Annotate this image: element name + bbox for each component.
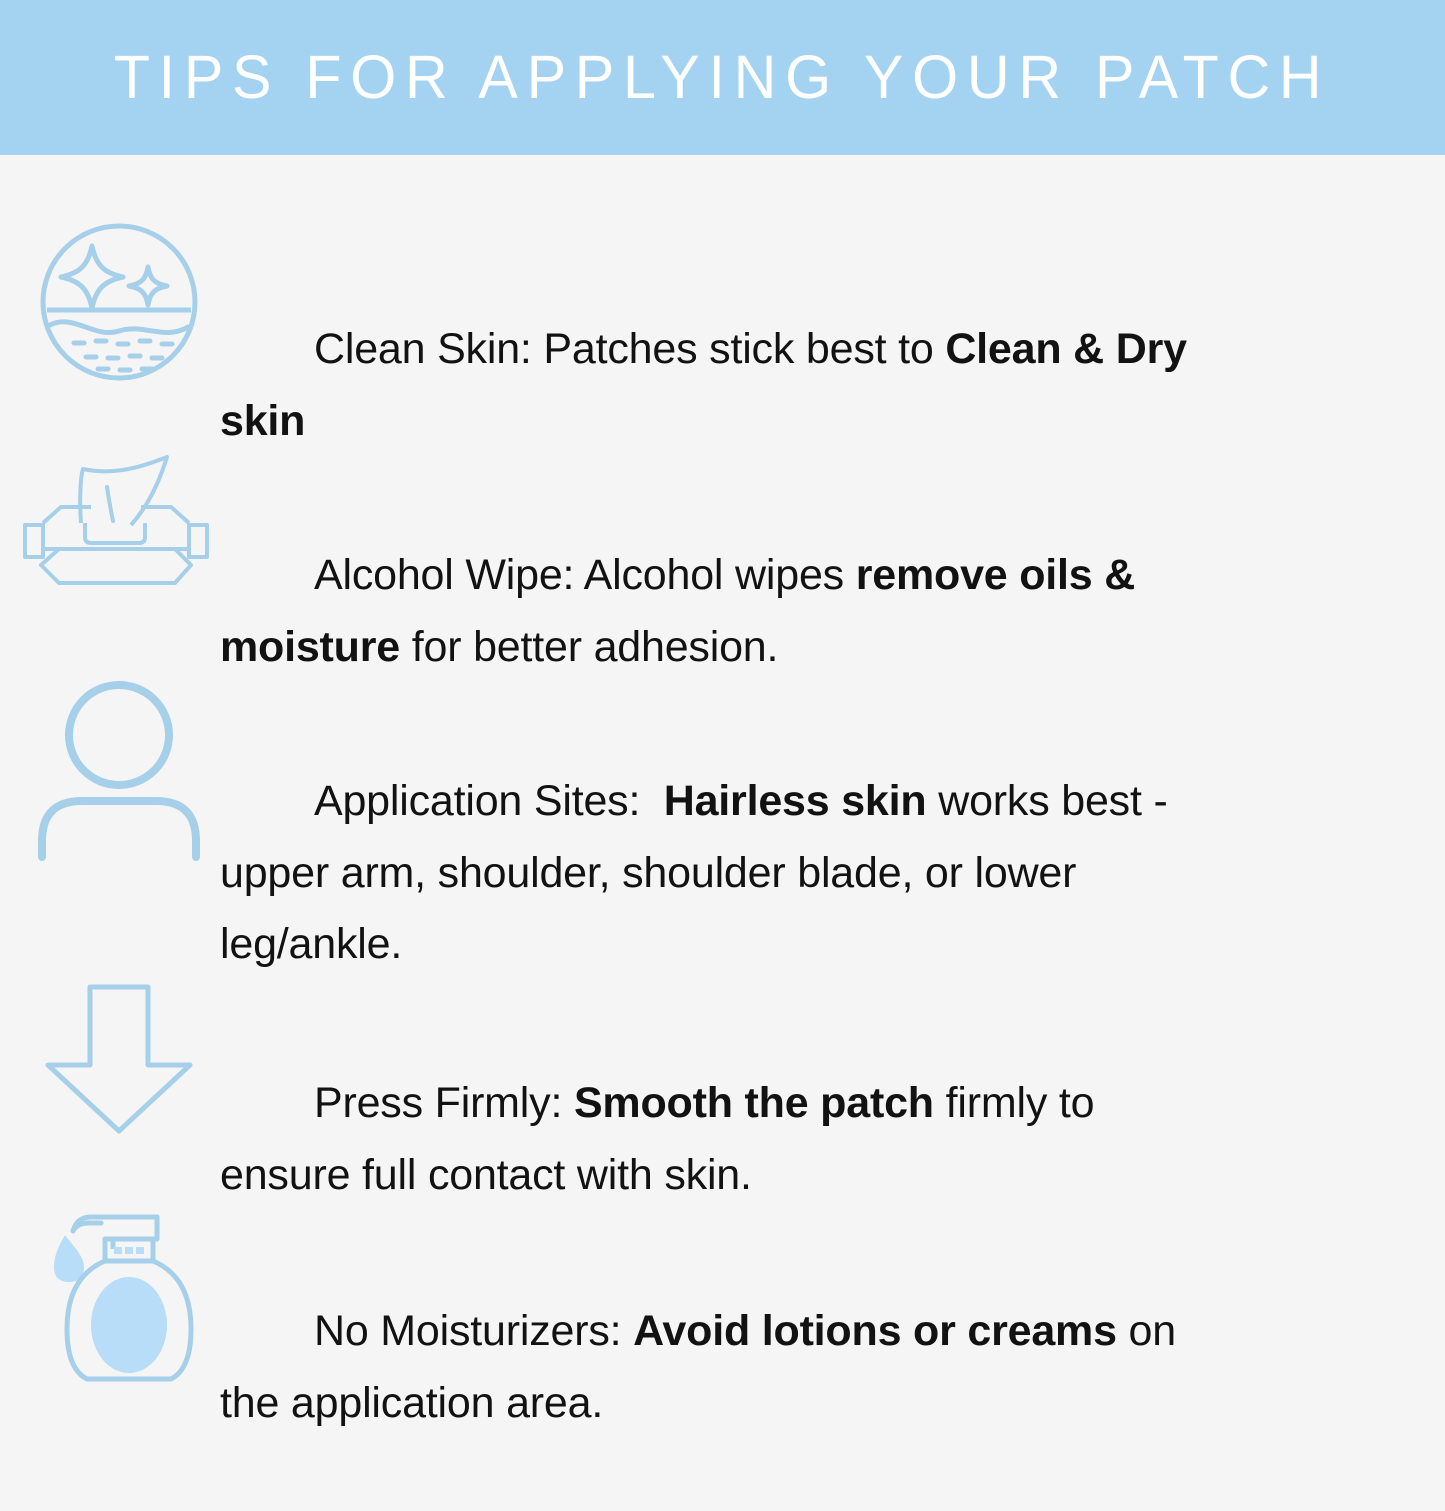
tip-text: No Moisturizers: Avoid lotions or creams…	[220, 1201, 1210, 1511]
tips-list: Clean Skin: Patches stick best to Clean …	[0, 155, 1445, 1445]
infographic-page: TIPS FOR APPLYING YOUR PATCH	[0, 0, 1445, 1445]
header-banner: TIPS FOR APPLYING YOUR PATCH	[0, 0, 1445, 155]
tip-emphasis: Avoid lotions or creams	[633, 1307, 1117, 1355]
tip-emphasis: Smooth the patch	[574, 1079, 934, 1127]
tip-lead: Alcohol Wipe: Alcohol wipes	[314, 551, 856, 599]
tip-emphasis: Hairless skin	[664, 777, 927, 825]
tip-lead: Clean Skin: Patches stick best to	[314, 325, 945, 373]
page-title: TIPS FOR APPLYING YOUR PATCH	[114, 47, 1331, 108]
down-arrow-icon	[0, 973, 220, 1143]
lotion-bottle-icon	[0, 1201, 220, 1391]
tip-lead: Press Firmly:	[314, 1079, 574, 1127]
tip-trail: for better adhesion.	[400, 623, 778, 671]
clean-skin-icon	[0, 217, 220, 387]
tip-lead: No Moisturizers:	[314, 1307, 633, 1355]
tip-row: No Moisturizers: Avoid lotions or creams…	[0, 1201, 1445, 1511]
alcohol-wipe-icon	[0, 445, 220, 595]
tip-lead: Application Sites:	[314, 777, 664, 825]
person-icon	[0, 673, 220, 863]
